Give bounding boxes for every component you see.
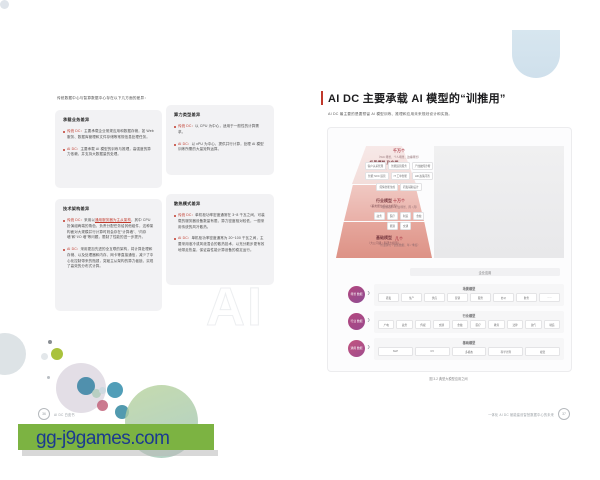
bullet-item: 传统 DC：单机柜功率密度通常在 3~8 千瓦之间，可装载的服务器设备数量有限，… <box>174 213 266 230</box>
flow-chip: 交通 <box>433 320 449 329</box>
watermark-url-text: gg-j9games.com <box>36 428 169 450</box>
scale-chip: 产线故障诊断 <box>412 162 434 170</box>
page-number-left: 36 <box>38 408 50 420</box>
bullet-text: 主要承载 AI 模型的训练与推理，高强度的算力依赖，并支持大数据量的处理。 <box>67 147 151 157</box>
flow-chip: 营销 <box>447 293 468 302</box>
intro-paragraph: 传统数据中心与智算数据中心存在以下几方面的差异： <box>57 96 257 102</box>
card-title: 承载业务差异 <box>63 117 154 123</box>
bullet-text: 以 xPU 为中心，提供并行计算，处理 AI 模型训练所需的大量矩阵运算。 <box>178 142 264 152</box>
document-page-spread: 传统数据中心与智算数据中心存在以下几方面的差异： 承载业务差异 传统 DC：主要… <box>0 0 600 480</box>
footer-right: 一体化 AI DC 赋能建设智慧数据中心的未来 37 <box>488 408 570 420</box>
bullet-dot-icon <box>174 144 176 146</box>
flow-row-industry: 行业模型 广电 政务 传媒 交通 金融 医疗 教育 法律 油气 制造 <box>374 311 564 333</box>
flow-chip: 办公 <box>493 293 514 302</box>
scale-title: 千万个 <box>334 148 464 154</box>
scale-chip: 政务 <box>374 212 385 220</box>
bullet-tag: 传统 DC： <box>178 124 195 128</box>
flow-node-general-data: 通用 数据 <box>348 340 365 357</box>
page-subtitle: AI DC 最主要的是要预留 AI 模型训练、推理和应用未来规划设计和实施。 <box>328 112 452 117</box>
scale-chip: 金融 <box>413 212 424 220</box>
flow-chip: 生产 <box>401 293 422 302</box>
flow-chip: 油气 <box>525 320 541 329</box>
scale-chip-row: 舆情智能生成 研发辅助设计 <box>334 183 464 191</box>
scale-subtitle: （大量算力 / 优质数据、年 / 季度） <box>334 243 464 247</box>
flow-chip-row: 广电 政务 传媒 交通 金融 医疗 教育 法律 油气 制造 <box>378 320 560 329</box>
scale-group-industry: 十万个 （细分园区 / 行业场景、周 / 月） 政务 医疗 制造 金融 能源 交… <box>334 198 464 230</box>
scale-chip-row: 政务 医疗 制造 金融 <box>334 212 464 220</box>
bullet-dot-icon <box>63 249 65 251</box>
flow-chip: 传媒 <box>415 320 431 329</box>
figure-diagram: 场景模型 及应用 （问答型、推荐、代码生成） 行业模型 （垂类细分行业大模型） … <box>327 127 572 372</box>
watermark-shadow <box>22 450 218 456</box>
flow-chip-row: 研发 生产 供应 营销 服务 办公 财务 …… <box>378 293 560 302</box>
flow-node-scenario-data: 场景 数据 <box>348 286 365 303</box>
flow-chip: NLP <box>378 347 413 356</box>
bullet-text: 采用以 <box>84 218 95 222</box>
scale-group-foundation: 几个 （大量算力 / 优质数据、年 / 季度） <box>334 236 464 247</box>
scale-chip: 智能 SOC 运营 <box>365 172 388 180</box>
flow-chip: 研发 <box>378 293 399 302</box>
scale-chip: 交通 <box>400 222 411 230</box>
flow-row-title: 场景模型 <box>374 286 564 291</box>
flow-row-foundation: 基础模型 NLP CV 多模态 科学计算 视觉 <box>374 338 564 360</box>
flow-chip: 财务 <box>516 293 537 302</box>
scale-chip-row: 客户关系管理 智能运营服务 产线故障诊断 <box>334 162 464 170</box>
scale-chip-row: 能源 交通 <box>334 222 464 230</box>
flow-chip: 科学计算 <box>488 347 523 356</box>
bullet-dot-icon <box>174 126 176 128</box>
scale-chip: 客户关系管理 <box>365 162 387 170</box>
page-title: AI DC 主要承载 AI 模型的“训推用” <box>328 90 506 106</box>
bullet-item: 传统 DC：主要承载企业常规应用和数据存储，如 Web 服务、数据库管理和文件存… <box>63 129 154 141</box>
flow-chip-row: NLP CV 多模态 科学计算 视觉 <box>378 347 560 356</box>
bullet-dot-icon <box>63 131 65 133</box>
scale-chip: 研发辅助设计 <box>400 183 422 191</box>
bullet-item: AI DC：以 xPU 为中心，提供并行计算，处理 AI 模型训练所需的大量矩阵… <box>174 142 266 154</box>
card-architecture-difference: 技术架构差异 传统 DC：采用以通用服务器为主从架构，其中 CPU 扮演组两端的… <box>55 199 162 311</box>
flow-header-label: 企业应用 <box>410 268 560 276</box>
flow-chip: …… <box>539 293 560 302</box>
heading-accent-bar <box>321 91 323 105</box>
bullet-dot-icon <box>63 220 65 222</box>
arrow-right-icon: ❯ <box>367 344 370 349</box>
scale-chip: IT 工单智能 <box>391 172 410 180</box>
flow-row-title: 基础模型 <box>374 340 564 345</box>
bullet-tag: 传统 DC： <box>67 129 84 133</box>
ai-watermark-text: AI <box>206 280 264 334</box>
flow-chip: CV <box>415 347 450 356</box>
flow-chip: 政务 <box>396 320 412 329</box>
flow-chip: 广电 <box>378 320 394 329</box>
pyramid-group: 场景模型 及应用 （问答型、推荐、代码生成） 行业模型 （垂类细分行业大模型） … <box>334 140 566 262</box>
card-cooling-difference: 散热模式差异 传统 DC：单机柜功率密度通常在 3~8 千瓦之间，可装载的服务器… <box>166 194 274 285</box>
bullet-tag: 传统 DC： <box>178 213 195 217</box>
arrow-right-icon: ❯ <box>367 290 370 295</box>
scale-subtitle: （细分园区 / 行业场景、周 / 月） <box>334 205 464 209</box>
bullet-link[interactable]: 通用服务器为主从架构 <box>95 218 131 222</box>
bullet-item: AI DC：主要承载 AI 模型的训练与推理，高强度的算力依赖，并支持大数据量的… <box>63 147 154 159</box>
bullet-item: 传统 DC：以 CPU 为中心，适用于一般性的计算需求。 <box>174 124 266 136</box>
bullet-dot-icon <box>174 215 176 217</box>
flow-chip: 法律 <box>507 320 523 329</box>
left-page: 传统数据中心与智算数据中心存在以下几方面的差异： 承载业务差异 传统 DC：主要… <box>0 0 300 480</box>
footer-label-left: AI DC 白皮书 <box>54 412 75 417</box>
scale-chip: 医疗 <box>387 212 398 220</box>
flow-chip: 教育 <box>488 320 504 329</box>
card-title: 散热模式差异 <box>174 201 266 207</box>
flow-chip: 多模态 <box>452 347 487 356</box>
scale-subtitle: （ToC 场景、个人场景、边缘场景） <box>334 155 464 159</box>
footer-label-right: 一体化 AI DC 赋能建设智慧数据中心的未来 <box>488 412 554 417</box>
bullet-text: 单机柜功率密度通常为 20~100 千瓦之间，主要采用液冷或风液混合的散热技术，… <box>178 236 264 252</box>
card-title: 算力类型差异 <box>174 112 266 118</box>
bullet-item: 传统 DC：采用以通用服务器为主从架构，其中 CPU 扮演组两端的角色，负责分配… <box>63 218 154 241</box>
flow-node-industry-data: 行业 数据 <box>348 313 365 330</box>
card-title: 技术架构差异 <box>63 206 154 212</box>
bullet-text: 采用更加先进的全互联的架构，将计算处理和存储、以及处理器和内存、网卡等直接通信，… <box>67 247 153 268</box>
flow-group: 企业应用 场景 数据 ❯ 场景模型 研发 生产 供应 营销 服务 办公 财务 …… <box>334 268 566 364</box>
scale-group-scenario: 千万个 （ToC 场景、个人场景、边缘场景） 客户关系管理 智能运营服务 产线故… <box>334 148 464 191</box>
bullet-tag: AI DC： <box>178 236 191 240</box>
arrow-right-icon: ❯ <box>367 317 370 322</box>
figure-caption: 图 3-2 典型大模型应用之间 <box>327 376 570 381</box>
scale-chip-row: 智能 SOC 运营 IT 工单智能 HR 政策问答 <box>334 172 464 180</box>
flow-chip: 金融 <box>452 320 468 329</box>
bullet-tag: AI DC： <box>67 247 80 251</box>
scale-title: 几个 <box>334 236 464 242</box>
bullet-tag: AI DC： <box>178 142 191 146</box>
scale-chip: 制造 <box>400 212 411 220</box>
bullet-tag: AI DC： <box>67 147 80 151</box>
scale-chip: 能源 <box>387 222 398 230</box>
flow-chip: 制造 <box>544 320 560 329</box>
footer-left: 36 AI DC 白皮书 <box>38 408 75 420</box>
bullet-item: AI DC：采用更加先进的全互联的架构，将计算处理和存储、以及处理器和内存、网卡… <box>63 247 154 270</box>
bullet-dot-icon <box>174 238 176 240</box>
flow-chip: 视觉 <box>525 347 560 356</box>
card-compute-type-difference: 算力类型差异 传统 DC：以 CPU 为中心，适用于一般性的计算需求。 AI D… <box>166 105 274 175</box>
scale-chip: 智能运营服务 <box>388 162 410 170</box>
bullet-dot-icon <box>63 149 65 151</box>
card-business-difference: 承载业务差异 传统 DC：主要承载企业常规应用和数据存储，如 Web 服务、数据… <box>55 110 162 188</box>
scale-chip: 舆情智能生成 <box>376 183 398 191</box>
page-number-right: 37 <box>558 408 570 420</box>
flow-chip: 供应 <box>424 293 445 302</box>
scale-title: 十万个 <box>334 198 464 204</box>
flow-row-title: 行业模型 <box>374 313 564 318</box>
flow-chip: 医疗 <box>470 320 486 329</box>
flow-chip: 服务 <box>470 293 491 302</box>
bullet-item: AI DC：单机柜功率密度通常为 20~100 千瓦之间，主要采用液冷或风液混合… <box>174 236 266 253</box>
flow-row-scenario: 场景模型 研发 生产 供应 营销 服务 办公 财务 …… <box>374 284 564 306</box>
scale-chip: HR 政策问答 <box>412 172 433 180</box>
bullet-tag: 传统 DC： <box>67 218 84 222</box>
